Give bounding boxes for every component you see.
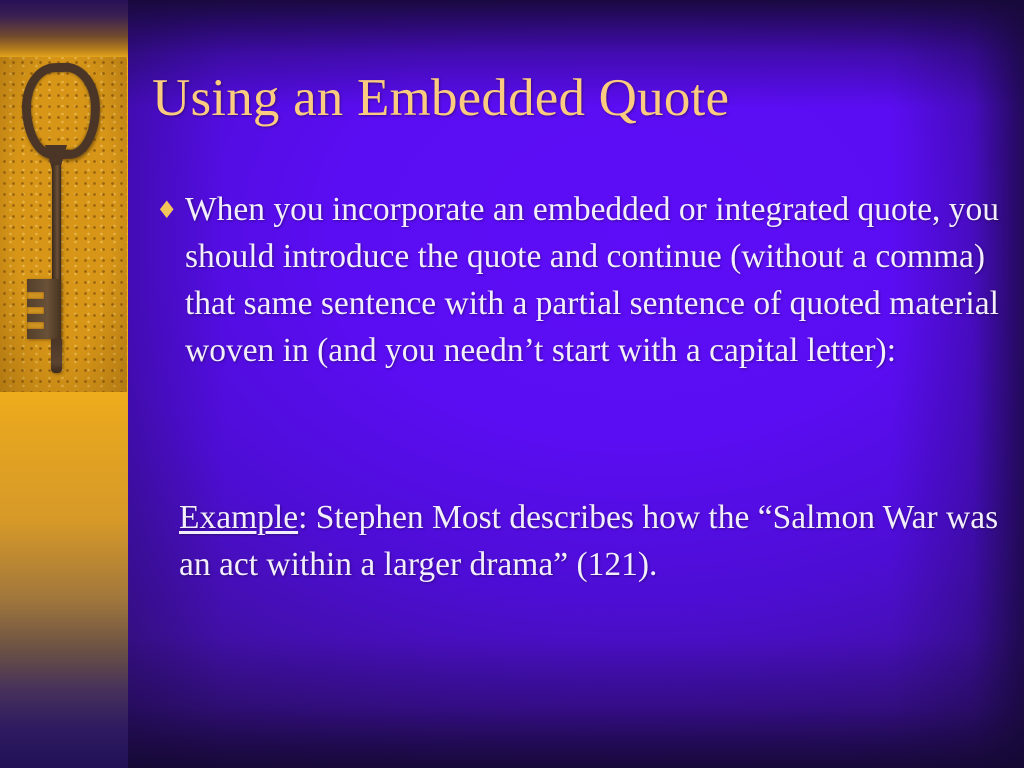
key-photo (0, 57, 127, 392)
photo-vignette (0, 57, 127, 392)
slide-body: ♦ When you incorporate an embedded or in… (152, 186, 1002, 374)
diamond-bullet-icon: ♦ (156, 187, 178, 234)
slide-title: Using an Embedded Quote (152, 68, 1000, 128)
slide-canvas: Using an Embedded Quote ♦ When you incor… (0, 0, 1024, 768)
example-paragraph: Example: Stephen Most describes how the … (152, 494, 1024, 588)
bullet-item-text: When you incorporate an embedded or inte… (185, 186, 1002, 374)
bullet-list-item: ♦ When you incorporate an embedded or in… (152, 186, 1002, 374)
example-label: Example (179, 499, 298, 536)
example-body-text: : Stephen Most describes how the “Salmon… (179, 499, 998, 583)
